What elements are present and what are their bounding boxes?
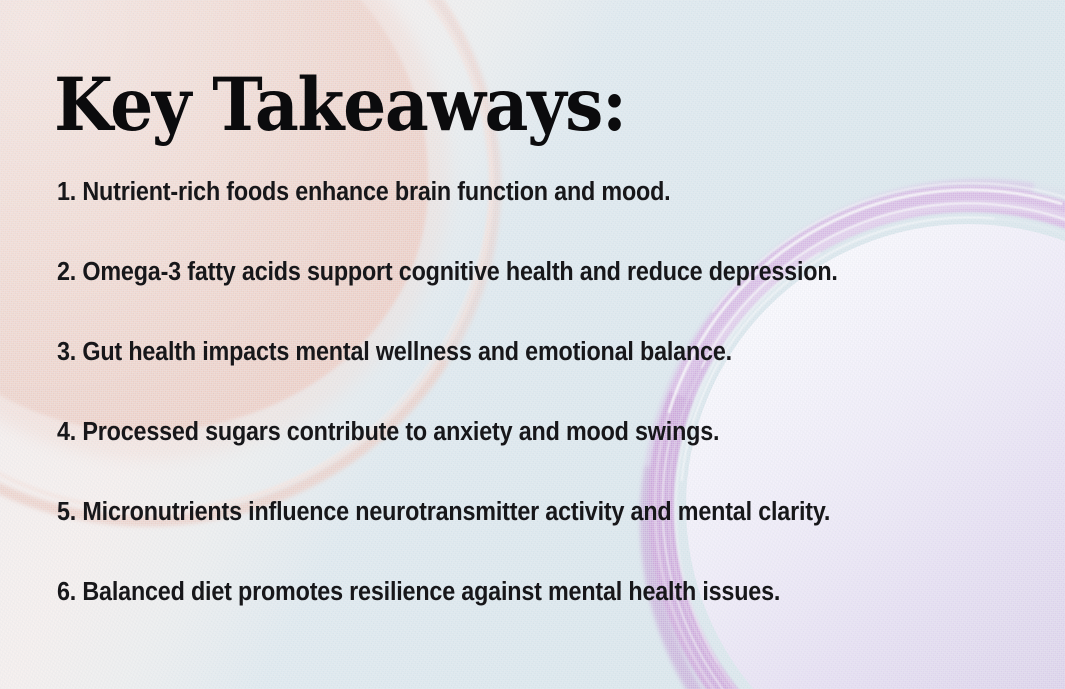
key-takeaways-graphic: Key Takeaways: 1. Nutrient-rich foods en…	[0, 0, 1065, 689]
takeaway-item-3: 3. Gut health impacts mental wellness an…	[57, 312, 935, 392]
takeaway-item-6: 6. Balanced diet promotes resilience aga…	[57, 552, 935, 632]
page-title: Key Takeaways:	[54, 66, 626, 145]
takeaway-item-2: 2. Omega-3 fatty acids support cognitive…	[57, 232, 935, 312]
content-layer: Key Takeaways: 1. Nutrient-rich foods en…	[0, 0, 1065, 689]
takeaway-list: 1. Nutrient-rich foods enhance brain fun…	[57, 152, 1017, 632]
takeaway-item-4: 4. Processed sugars contribute to anxiet…	[57, 392, 935, 472]
takeaway-item-1: 1. Nutrient-rich foods enhance brain fun…	[57, 152, 935, 232]
takeaway-item-5: 5. Micronutrients influence neurotransmi…	[57, 472, 935, 552]
